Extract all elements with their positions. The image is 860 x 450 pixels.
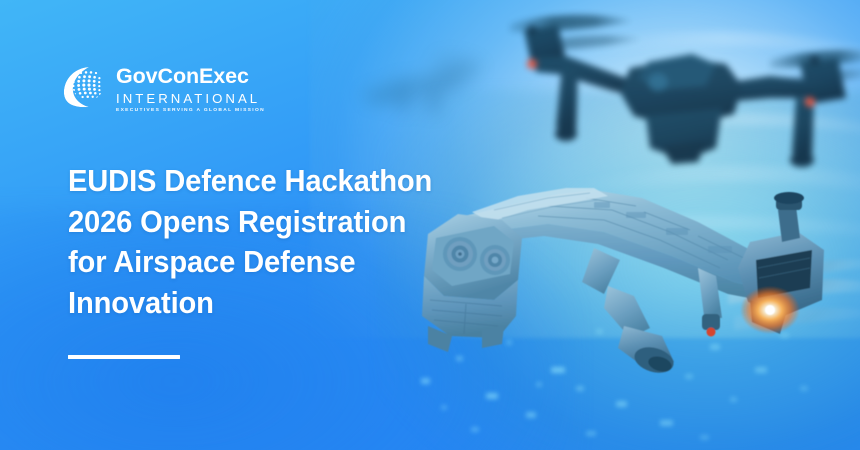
article-headline: EUDIS Defence Hackathon 2026 Opens Regis… bbox=[68, 161, 450, 324]
brand-logo[interactable]: GovConExec INTERNATIONAL EXECUTIVES SERV… bbox=[62, 64, 265, 114]
brand-subtitle: INTERNATIONAL bbox=[116, 92, 265, 105]
accent-divider bbox=[68, 355, 180, 359]
brand-wordmark: GovConExec INTERNATIONAL EXECUTIVES SERV… bbox=[116, 64, 265, 114]
dotted-globe-icon bbox=[62, 64, 108, 112]
brand-name: GovConExec bbox=[116, 66, 265, 88]
article-hero-banner: GovConExec INTERNATIONAL EXECUTIVES SERV… bbox=[0, 0, 860, 450]
drone-silhouette bbox=[470, 2, 860, 187]
drone-foreground bbox=[398, 176, 860, 406]
brand-tagline: EXECUTIVES SERVING A GLOBAL MISSION bbox=[116, 109, 265, 114]
